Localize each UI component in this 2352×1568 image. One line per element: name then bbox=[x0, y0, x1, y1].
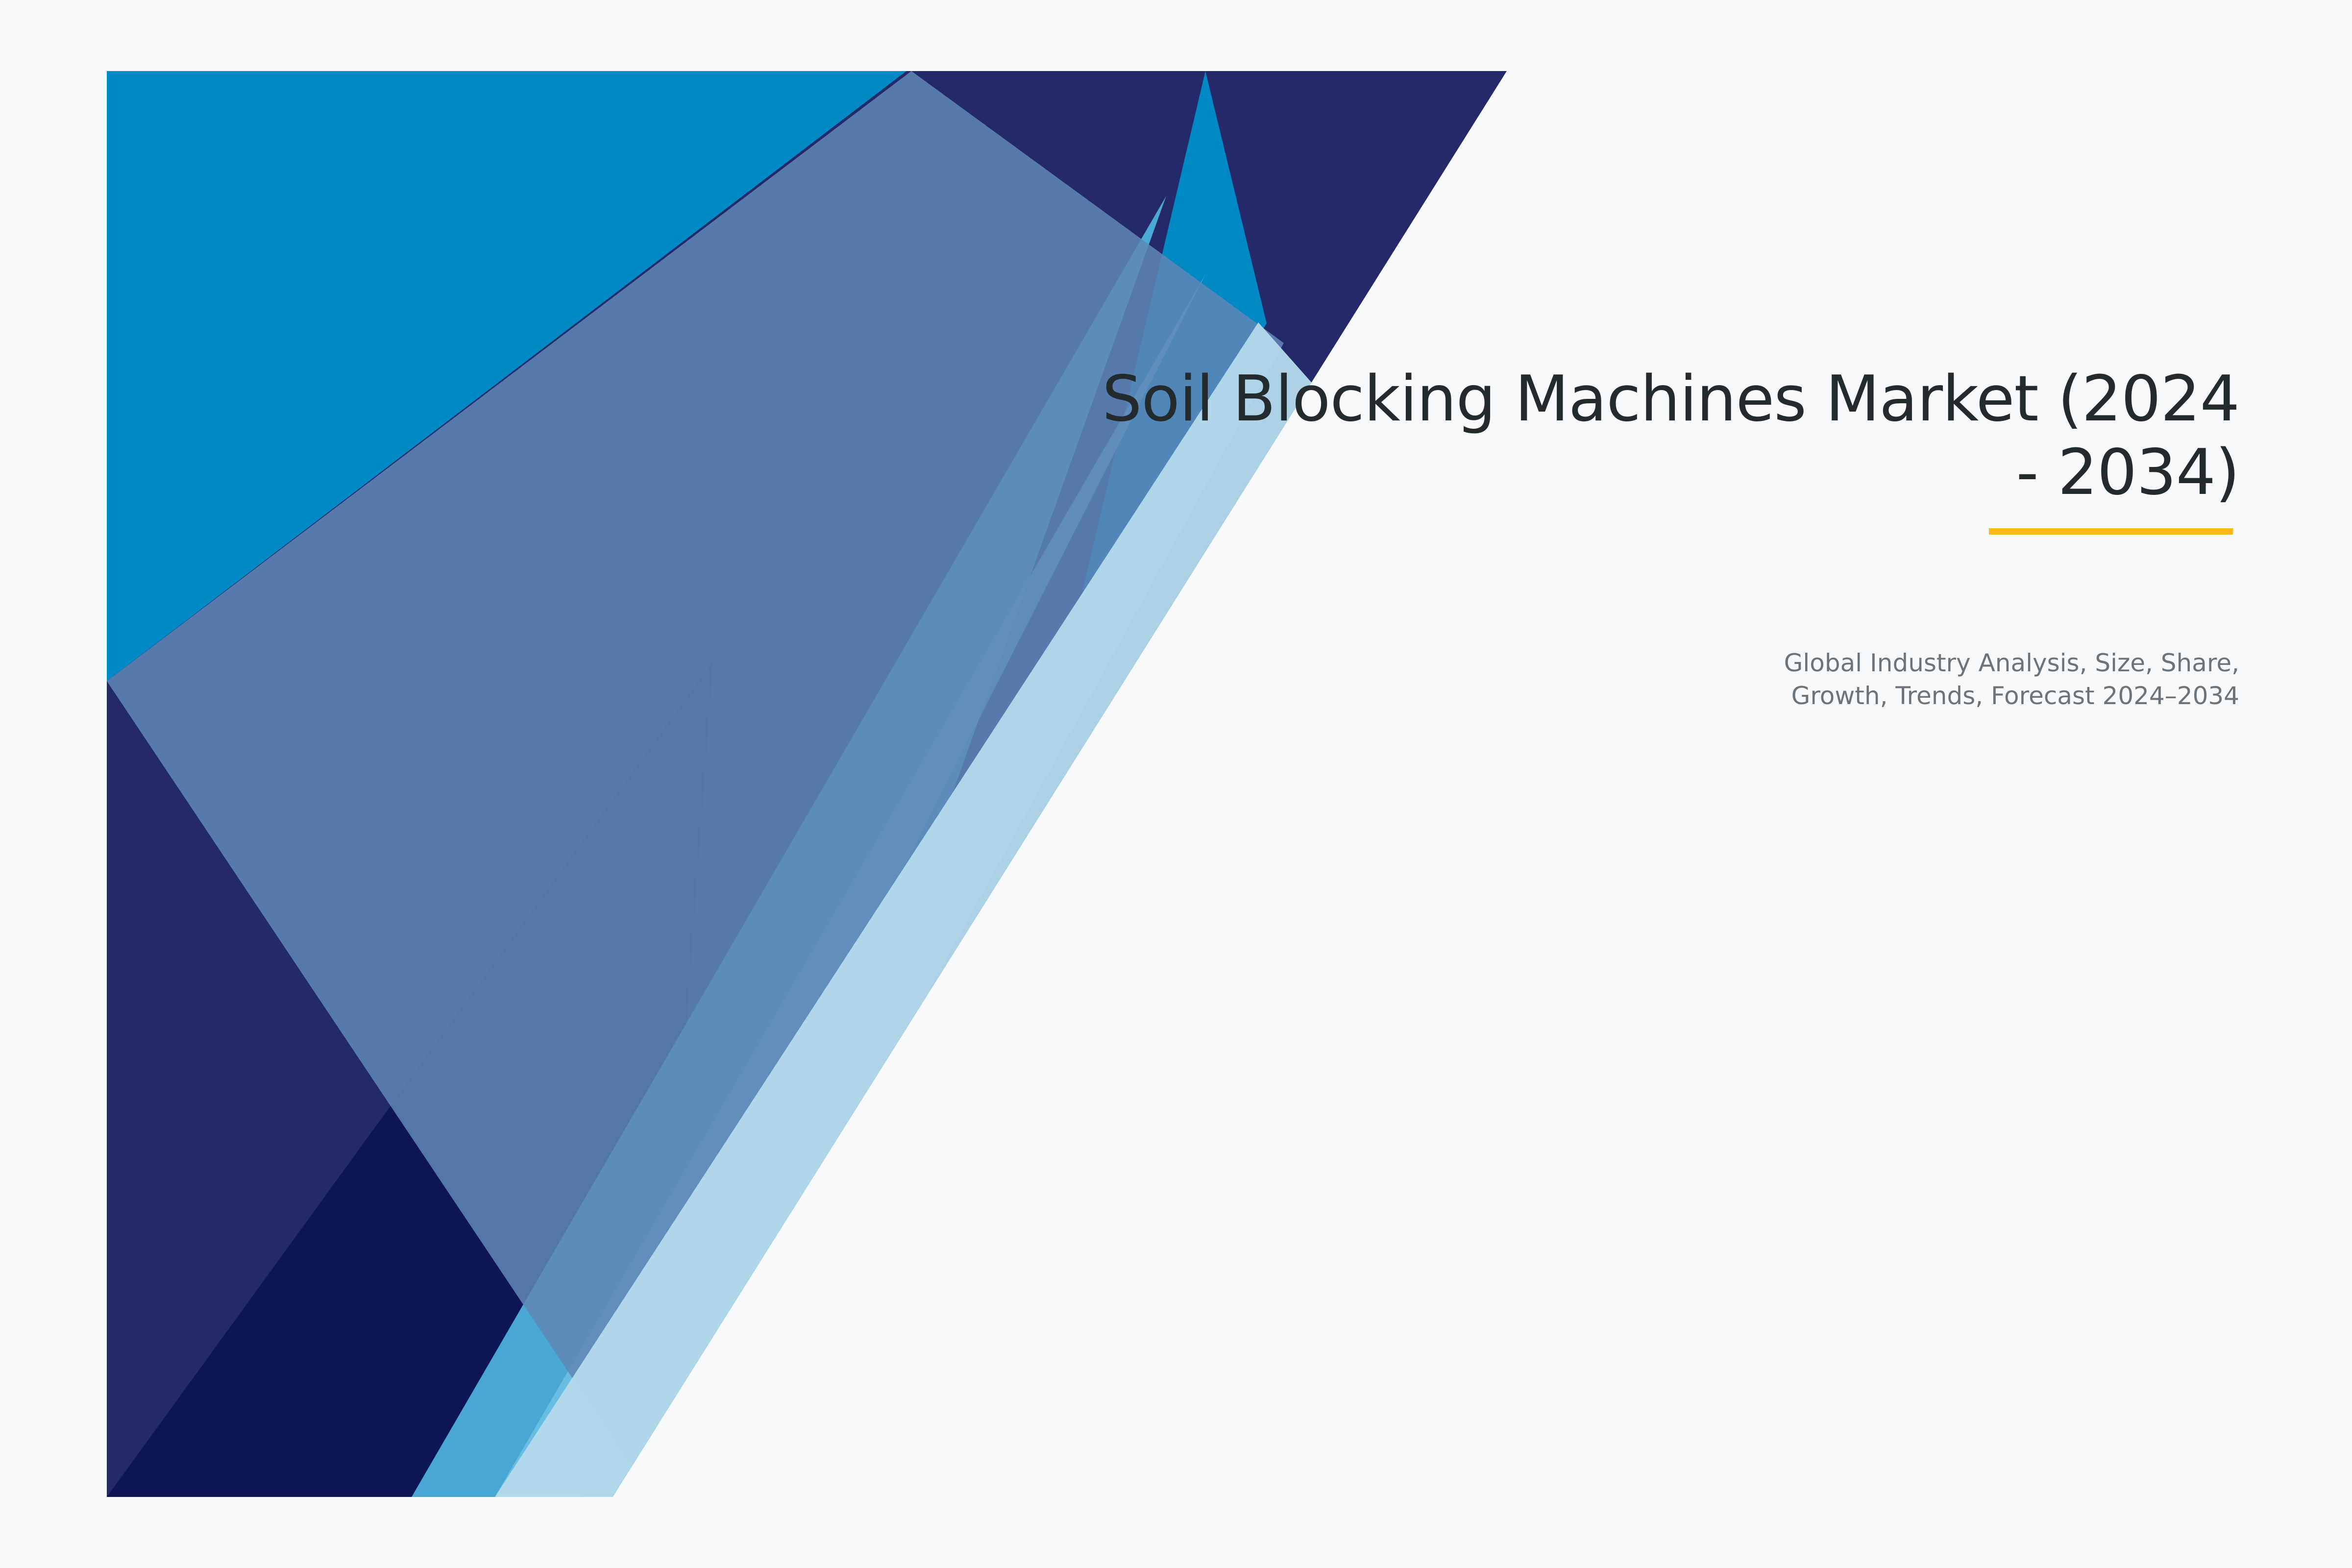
page-subtitle: Global Industry Analysis, Size, Share, G… bbox=[1063, 647, 2239, 712]
subtitle-block: Global Industry Analysis, Size, Share, G… bbox=[1063, 647, 2239, 712]
shape-cyan-base bbox=[107, 71, 1508, 1499]
shape-dark-navy-triangle bbox=[107, 661, 713, 1497]
shape-dark-navy-blade bbox=[274, 661, 713, 1497]
title-block: Soil Blocking Machines Market (2024 - 20… bbox=[916, 363, 2239, 510]
abstract-angular-artwork bbox=[0, 0, 2352, 1568]
shape-steel-blue-panel bbox=[107, 71, 1284, 1497]
shape-navy-wedge bbox=[107, 71, 1507, 1497]
title-accent-underline bbox=[1989, 528, 2233, 535]
report-cover-page: Soil Blocking Machines Market (2024 - 20… bbox=[0, 0, 2352, 1568]
shape-cyan-sliver bbox=[1068, 71, 1267, 652]
page-title: Soil Blocking Machines Market (2024 - 20… bbox=[916, 363, 2239, 510]
